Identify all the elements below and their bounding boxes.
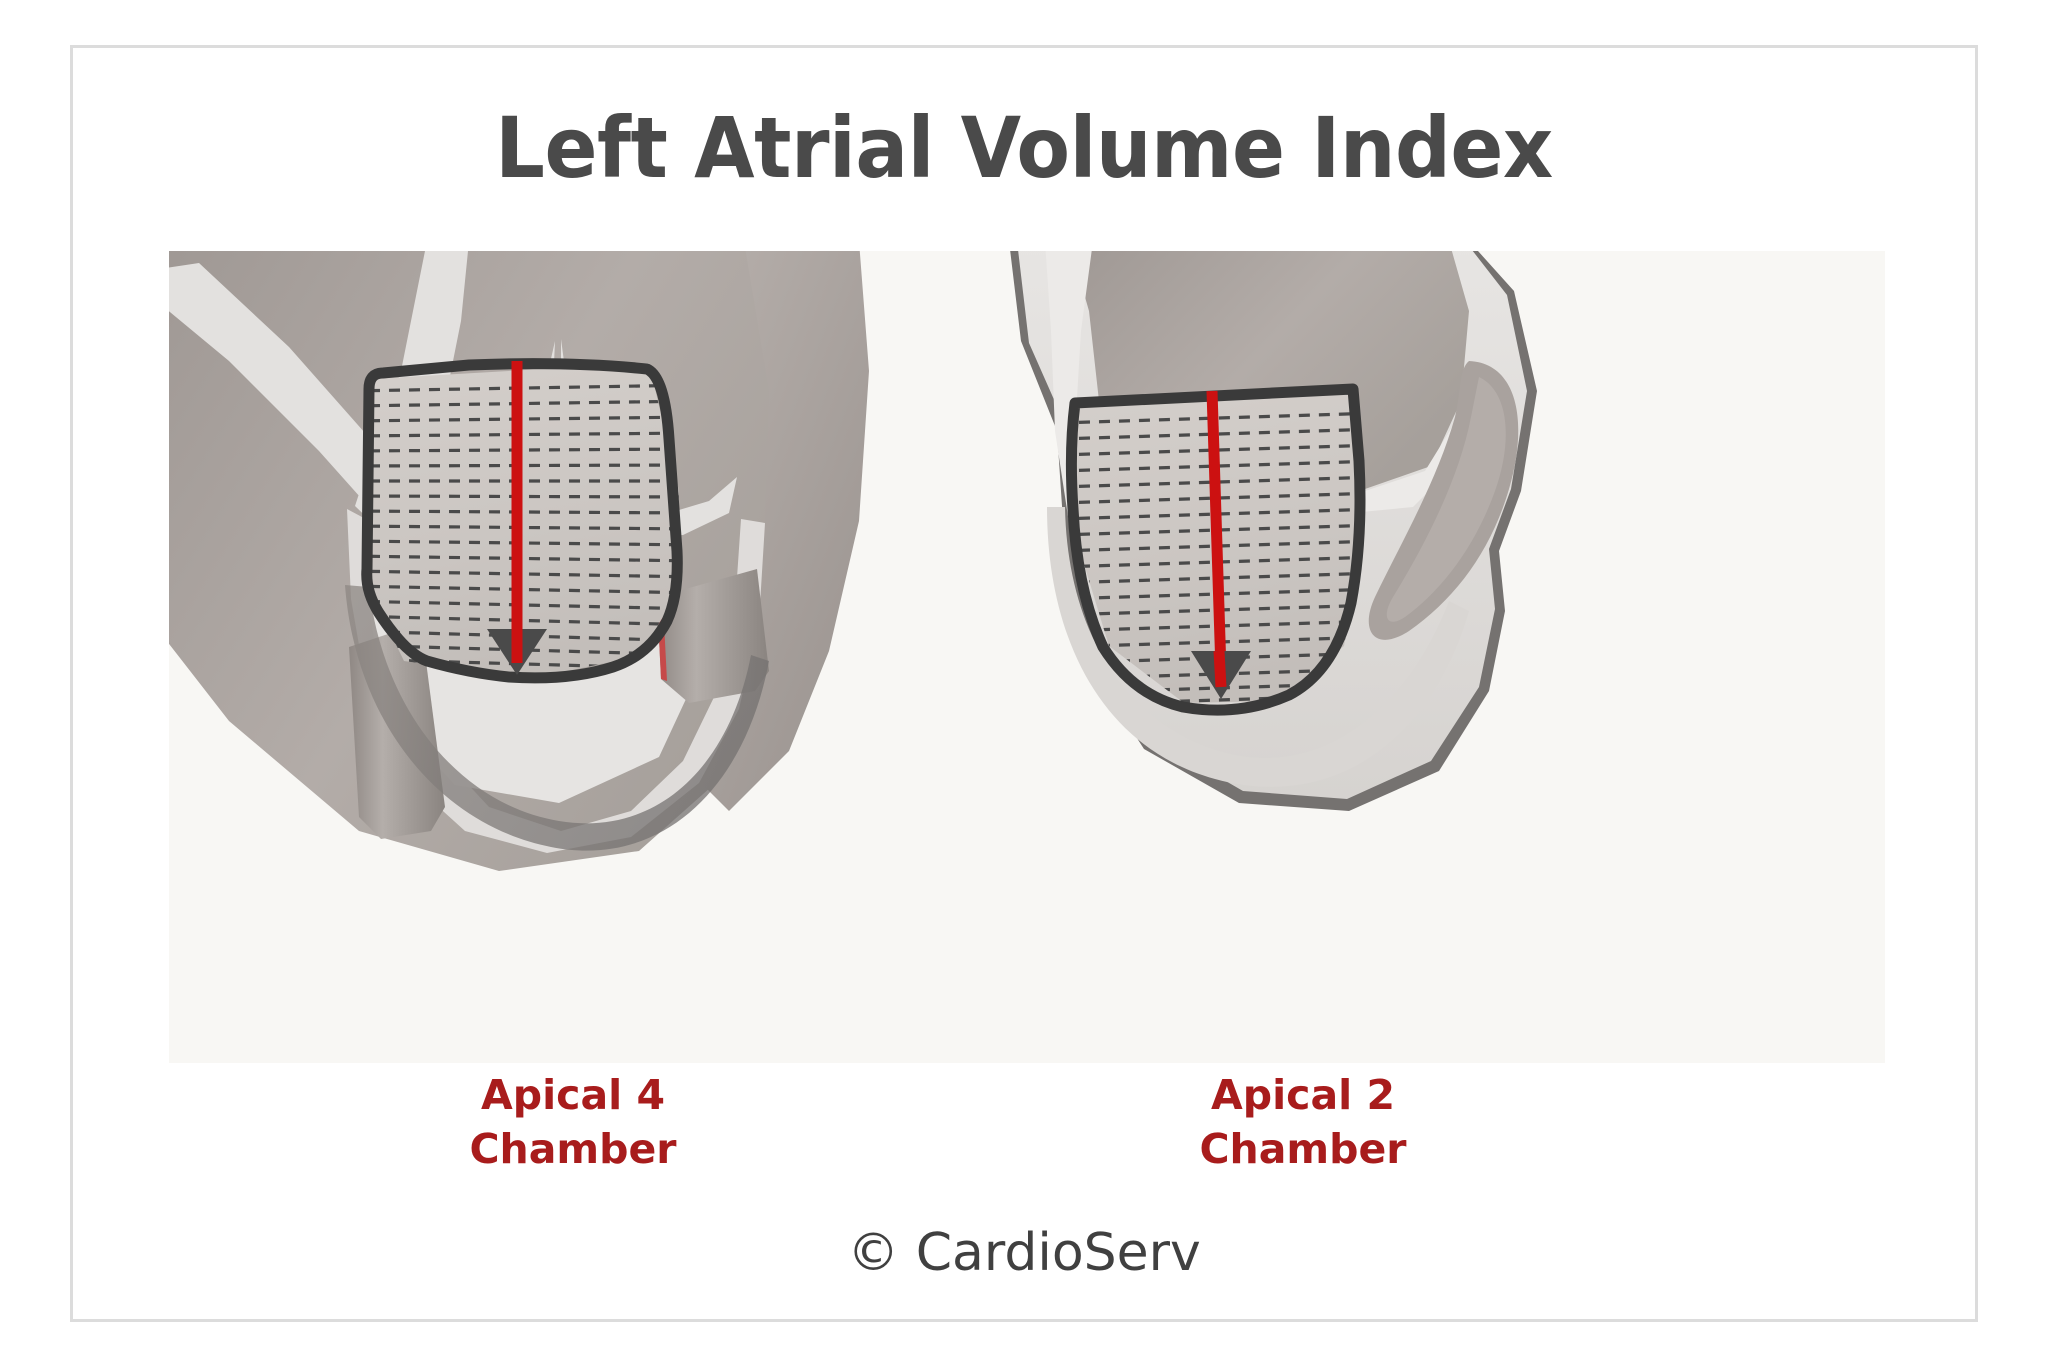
page-title: Left Atrial Volume Index <box>140 106 1909 190</box>
heart-illustrations-svg <box>169 251 1885 1063</box>
illustration-panel <box>169 251 1885 1063</box>
apical-4-chamber-illustration <box>169 251 869 871</box>
figure-card: Left Atrial Volume Index <box>70 45 1978 1322</box>
apical-2-chamber-illustration <box>1009 251 1537 811</box>
a2c-arrow-tip <box>1219 651 1221 687</box>
caption-apical-4-chamber: Apical 4 Chamber <box>373 1068 773 1176</box>
caption-apical-2-chamber: Apical 2 Chamber <box>1103 1068 1503 1176</box>
copyright-notice: © CardioServ <box>73 1223 1975 1283</box>
